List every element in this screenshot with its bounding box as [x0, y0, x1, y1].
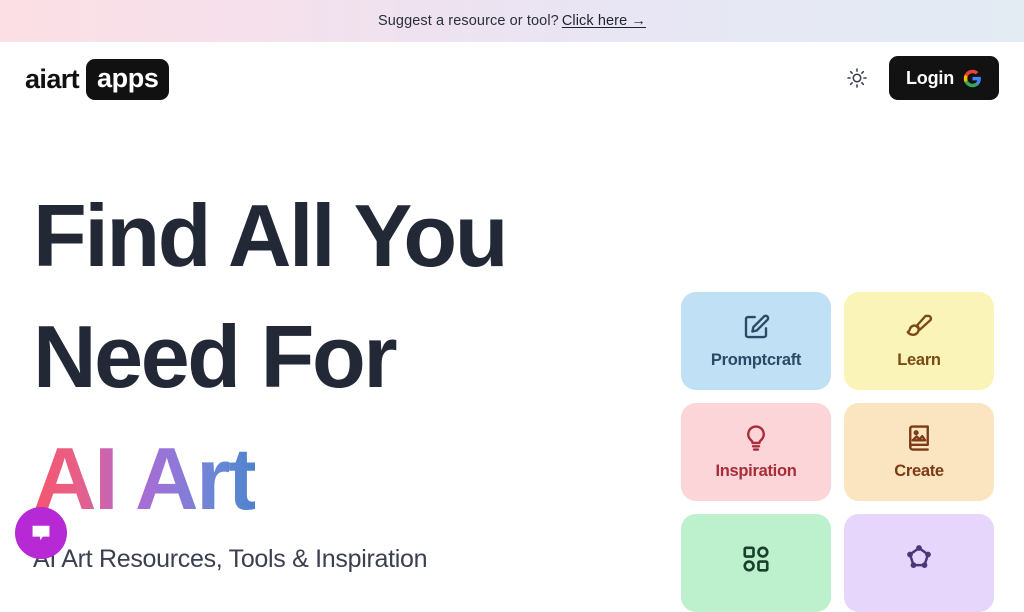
category-card-label: Learn — [897, 351, 940, 370]
category-card-create[interactable]: Create — [844, 403, 994, 501]
announcement-banner: Suggest a resource or tool? Click here → — [0, 0, 1024, 42]
announcement-link[interactable]: Click here → — [562, 13, 646, 29]
hero-heading-accent: AI Art — [33, 418, 255, 539]
site-header: aiart apps Login — [0, 42, 1024, 116]
image-book-icon — [904, 423, 934, 453]
hero-heading-line-1: Find All You — [33, 175, 653, 296]
chat-widget-button[interactable] — [15, 507, 67, 559]
pencil-square-icon — [741, 312, 771, 342]
hero-section: Find All You Need For AI Art AI Art Reso… — [33, 175, 653, 574]
category-card-grid: Promptcraft Learn Inspiration Create — [681, 292, 993, 612]
announcement-text: Suggest a resource or tool? — [378, 13, 559, 29]
shapes-grid-icon — [741, 544, 771, 574]
logo-badge: apps — [86, 59, 169, 100]
chat-bubble-icon — [28, 520, 54, 546]
logo-wordmark: aiart — [25, 66, 79, 93]
category-card-label: Create — [894, 462, 944, 481]
paintbrush-icon — [904, 312, 934, 342]
lightbulb-icon — [741, 423, 771, 453]
sun-icon — [846, 67, 868, 89]
hero-heading-accent-wrap: AI Art — [33, 418, 653, 539]
google-g-icon — [963, 69, 982, 88]
login-label: Login — [906, 68, 954, 89]
hero-subtitle: AI Art Resources, Tools & Inspiration — [33, 545, 653, 574]
login-button[interactable]: Login — [889, 56, 999, 100]
network-nodes-icon — [904, 544, 934, 574]
header-actions: Login — [844, 56, 999, 100]
category-card-learn[interactable]: Learn — [844, 292, 994, 390]
category-card-label: Promptcraft — [711, 351, 801, 370]
category-card-shapes[interactable] — [681, 514, 831, 612]
theme-toggle-button[interactable] — [844, 65, 870, 91]
category-card-network[interactable] — [844, 514, 994, 612]
hero-heading-line-2: Need For — [33, 296, 653, 417]
category-card-inspiration[interactable]: Inspiration — [681, 403, 831, 501]
site-logo[interactable]: aiart apps — [25, 60, 169, 98]
category-card-label: Inspiration — [715, 462, 796, 481]
category-card-promptcraft[interactable]: Promptcraft — [681, 292, 831, 390]
